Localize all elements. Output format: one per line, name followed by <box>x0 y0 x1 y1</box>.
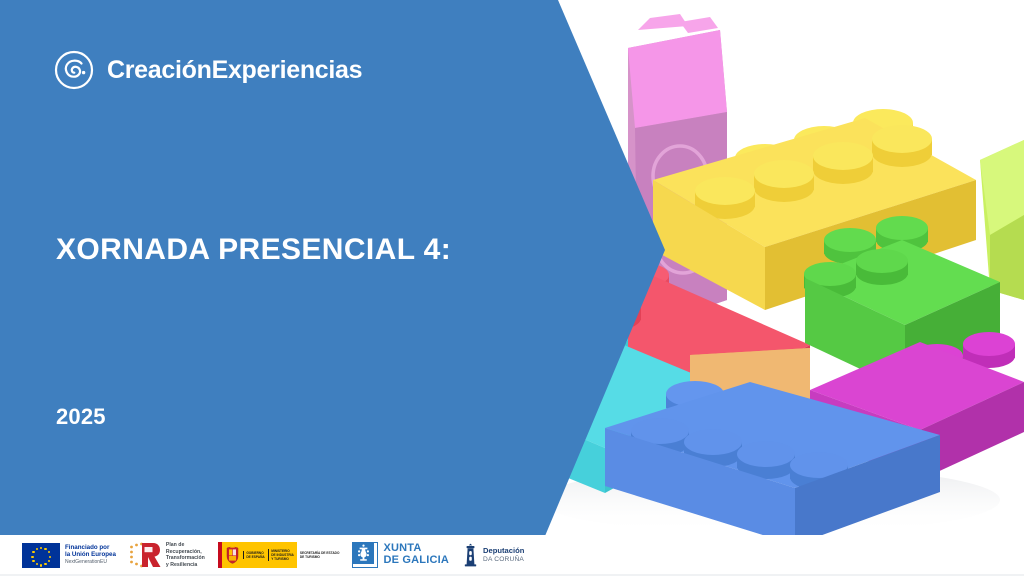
xunta-de-galicia-logo: XUNTA DE GALICIA <box>352 540 449 570</box>
eu-logo-line3: NextGenerationEU <box>65 560 116 566</box>
deputacion-tower-icon <box>462 543 479 567</box>
deputacion-line1: Deputación <box>483 547 524 555</box>
brand-wordmark: CreaciónExperiencias <box>107 58 362 83</box>
plan-recuperacion-logo: Plan de Recuperación, Transformación y R… <box>129 540 205 570</box>
funding-logo-bank: Financiado por la Unión Europea NextGene… <box>22 538 524 572</box>
footer: Financiado por la Unión Europea NextGene… <box>0 535 1024 576</box>
gobierno-espana-logo: GOBIERNO DE ESPAÑA MINISTERIO DE INDUSTR… <box>218 540 340 570</box>
slide-year: 2025 <box>56 406 106 428</box>
secretaria-estado-cell: SECRETARÍA DE ESTADO DE TURISMO <box>300 551 340 560</box>
xunta-chalice-icon <box>352 542 378 568</box>
eu-logo-line2: la Unión Europea <box>65 552 116 559</box>
prtr-line4: y Resiliencia <box>166 562 205 569</box>
page-title: XORNADA PRESENCIAL 4: <box>56 232 526 268</box>
eu-flag-icon <box>22 543 60 568</box>
title-slide: CreaciónExperiencias XORNADA PRESENCIAL … <box>0 0 1024 576</box>
brand-logo: CreaciónExperiencias <box>54 50 362 90</box>
prtr-emblem-icon <box>129 541 163 569</box>
ministerio-cell: MINISTERIO DE INDUSTRIA Y TURISMO <box>268 549 294 562</box>
spain-coat-of-arms-icon <box>225 546 240 564</box>
xunta-line2: DE GALICIA <box>383 555 449 567</box>
deputacion-da-coruna-logo: Deputación DA CORUÑA <box>462 540 524 570</box>
brick-lime <box>980 140 1024 300</box>
spiral-circle-icon <box>54 50 94 90</box>
deputacion-line2: DA CORUÑA <box>483 556 524 563</box>
gobierno-cell: GOBIERNO DE ESPAÑA <box>243 551 265 560</box>
european-union-funding-logo: Financiado por la Unión Europea NextGene… <box>22 540 116 570</box>
prtr-line3: Transformación <box>166 555 205 562</box>
